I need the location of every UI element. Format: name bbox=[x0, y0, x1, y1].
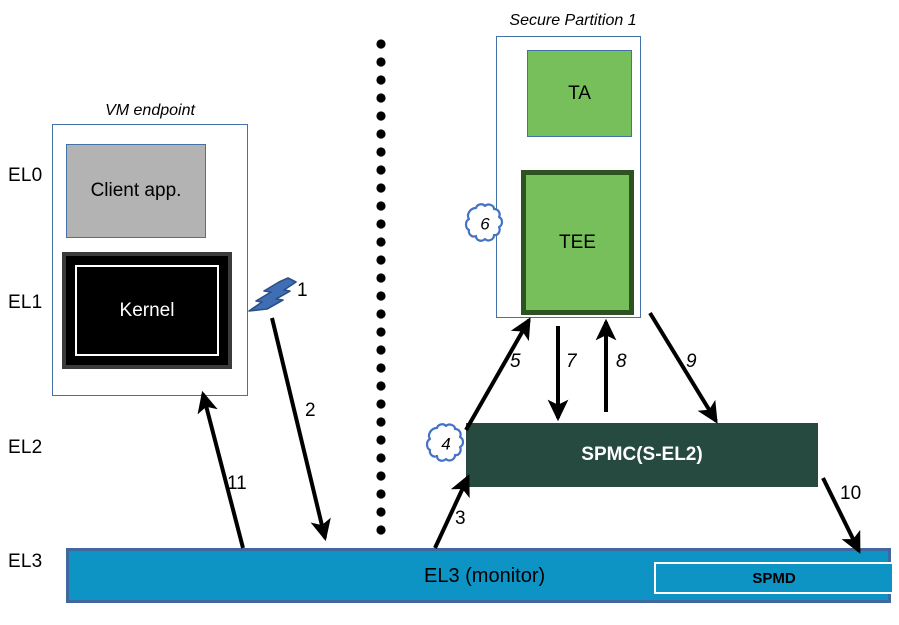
spmc-label: SPMC(S-EL2) bbox=[581, 444, 702, 466]
arrow-11 bbox=[203, 394, 243, 548]
lightning-bolt-icon bbox=[249, 278, 296, 311]
arrow-5 bbox=[466, 320, 529, 430]
exception-level-label-el2: EL2 bbox=[8, 437, 42, 459]
diagram-canvas: EL0 EL1 EL2 EL3 VM endpoint Client app. … bbox=[0, 0, 899, 625]
tee-label: TEE bbox=[559, 232, 596, 254]
client-app-label: Client app. bbox=[91, 180, 182, 202]
spmd-label: SPMD bbox=[752, 570, 795, 587]
ta-box[interactable]: TA bbox=[527, 50, 632, 137]
cloud-callout-4-label: 4 bbox=[424, 435, 468, 455]
vm-endpoint-caption: VM endpoint bbox=[52, 102, 248, 120]
arrow-label-11: 11 bbox=[227, 473, 247, 495]
secure-partition-caption: Secure Partition 1 bbox=[503, 12, 643, 30]
exception-level-label-el1: EL1 bbox=[8, 292, 42, 314]
arrow-9 bbox=[650, 313, 716, 421]
exception-level-label-el0: EL0 bbox=[8, 165, 42, 187]
kernel-label: Kernel bbox=[120, 300, 175, 322]
kernel-inner-frame: Kernel bbox=[75, 265, 219, 356]
kernel-box[interactable]: Kernel bbox=[62, 252, 232, 369]
arrow-label-8: 8 bbox=[616, 351, 627, 373]
arrow-label-1: 1 bbox=[297, 280, 308, 302]
arrow-label-9: 9 bbox=[686, 351, 697, 373]
cloud-callout-4[interactable]: 4 bbox=[424, 420, 468, 470]
secure-world-divider bbox=[376, 39, 385, 534]
arrow-2 bbox=[272, 318, 325, 538]
cloud-callout-6-label: 6 bbox=[463, 215, 507, 235]
client-app-box[interactable]: Client app. bbox=[66, 144, 206, 238]
arrow-label-2: 2 bbox=[305, 400, 316, 422]
spmc-box[interactable]: SPMC(S-EL2) bbox=[466, 423, 818, 487]
arrow-label-5: 5 bbox=[510, 351, 521, 373]
el3-monitor-label: EL3 (monitor) bbox=[424, 565, 545, 588]
el3-monitor-bar[interactable]: EL3 (monitor) SPMD bbox=[66, 548, 891, 603]
arrow-label-3: 3 bbox=[455, 508, 466, 530]
arrow-label-10: 10 bbox=[840, 483, 861, 505]
cloud-callout-6[interactable]: 6 bbox=[463, 200, 507, 250]
exception-level-label-el3: EL3 bbox=[8, 551, 42, 573]
arrow-label-7: 7 bbox=[566, 351, 577, 373]
ta-label: TA bbox=[568, 83, 591, 105]
spmd-box[interactable]: SPMD bbox=[654, 562, 894, 594]
tee-box[interactable]: TEE bbox=[521, 170, 634, 315]
